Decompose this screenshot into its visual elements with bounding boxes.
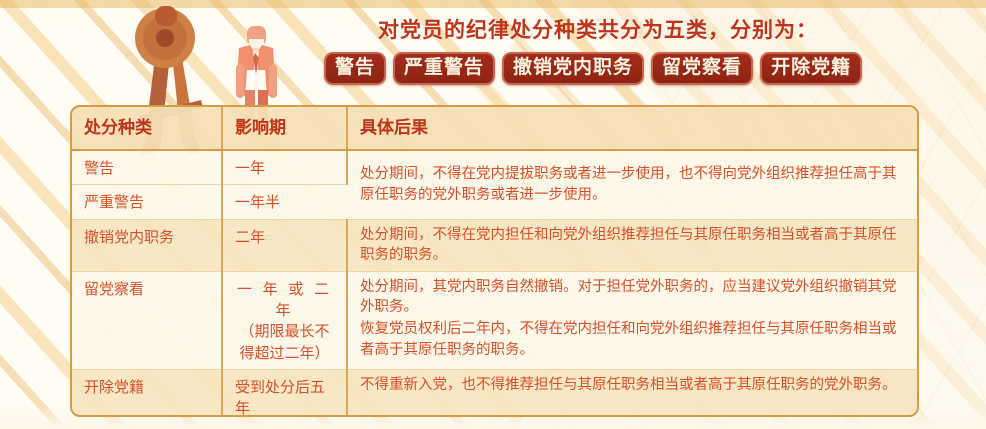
cell-period-expulsion: 受到处分后五年 xyxy=(222,370,347,417)
cell-period-probation: 一 年 或 二 年 （期限最长不 得超过二年） xyxy=(222,271,347,369)
punishment-table: 处分种类 影响期 具体后果 警告 一年 处分期间，不得在党内提拔职务或者进一步使… xyxy=(72,107,917,417)
table-row: 开除党籍 受到处分后五年 不得重新入党，也不得推荐担任与其原任职务相当或者高于其… xyxy=(72,370,917,417)
page-title: 对党员的纪律处分种类共分为五类，分别为： xyxy=(378,14,968,44)
period-line-1: 一 年 或 二 年 xyxy=(235,279,334,322)
infographic-root: 对党员的纪律处分种类共分为五类，分别为： 警告 严重警告 撤销党内职务 留党察看… xyxy=(0,0,986,429)
cell-period-remove-post: 二年 xyxy=(222,219,347,271)
consequence-paragraph: 不得重新入党，也不得推荐担任与其原任职务相当或者高于其原任职务的党外职务。 xyxy=(360,375,905,396)
punishment-table-container: 处分种类 影响期 具体后果 警告 一年 处分期间，不得在党内提拔职务或者进一步使… xyxy=(70,105,919,417)
consequence-paragraph: 恢复党员权利后二年内，不得在党内担任和向党外组织推荐担任与其原任职务相当或者高于… xyxy=(360,319,905,360)
cell-kind-warning: 警告 xyxy=(72,150,222,185)
cell-kind-serious-warning: 严重警告 xyxy=(72,185,222,219)
column-header-consequence: 具体后果 xyxy=(347,107,917,150)
cell-consequence-expulsion: 不得重新入党，也不得推荐担任与其原任职务相当或者高于其原任职务的党外职务。 xyxy=(347,370,917,417)
cell-kind-probation: 留党察看 xyxy=(72,271,222,369)
badge-expulsion[interactable]: 开除党籍 xyxy=(760,52,862,85)
column-header-period: 影响期 xyxy=(222,107,347,150)
badge-serious-warning[interactable]: 严重警告 xyxy=(393,52,495,85)
consequence-paragraph: 处分期间，不得在党内担任和向党外组织推荐担任与其原任职务相当或者高于其原任职务的… xyxy=(360,225,905,266)
consequence-paragraph: 处分期间，其党内职务自然撤销。对于担任党外职务的，应当建议党外组织撤销其党外职务… xyxy=(360,277,905,318)
table-row: 留党察看 一 年 或 二 年 （期限最长不 得超过二年） 处分期间，其党内职务自… xyxy=(72,271,917,369)
cell-period-serious-warning: 一年半 xyxy=(222,185,347,219)
table-row: 撤销党内职务 二年 处分期间，不得在党内担任和向党外组织推荐担任与其原任职务相当… xyxy=(72,219,917,271)
badge-probation[interactable]: 留党察看 xyxy=(651,52,753,85)
badge-warning[interactable]: 警告 xyxy=(324,52,386,85)
cell-consequence-probation: 处分期间，其党内职务自然撤销。对于担任党外职务的，应当建议党外组织撤销其党外职务… xyxy=(347,271,917,369)
column-header-kind: 处分种类 xyxy=(72,107,222,150)
table-row: 警告 一年 处分期间，不得在党内提拔职务或者进一步使用，也不得向党外组织推荐担任… xyxy=(72,150,917,185)
cell-period-warning: 一年 xyxy=(222,150,347,185)
badge-remove-party-post[interactable]: 撤销党内职务 xyxy=(502,52,644,85)
table-header-row: 处分种类 影响期 具体后果 xyxy=(72,107,917,150)
punishment-badge-list: 警告 严重警告 撤销党内职务 留党察看 开除党籍 xyxy=(324,52,862,85)
period-line-2: （期限最长不 xyxy=(235,321,334,342)
cell-kind-expulsion: 开除党籍 xyxy=(72,370,222,417)
consequence-paragraph: 处分期间，不得在党内提拔职务或者进一步使用，也不得向党外组织推荐担任高于其原任职… xyxy=(360,164,905,205)
period-line-3: 得超过二年） xyxy=(235,343,334,364)
cell-kind-remove-post: 撤销党内职务 xyxy=(72,219,222,271)
cell-consequence-remove-post: 处分期间，不得在党内担任和向党外组织推荐担任与其原任职务相当或者高于其原任职务的… xyxy=(347,219,917,271)
cell-consequence-warning-group: 处分期间，不得在党内提拔职务或者进一步使用，也不得向党外组织推荐担任高于其原任职… xyxy=(347,150,917,219)
